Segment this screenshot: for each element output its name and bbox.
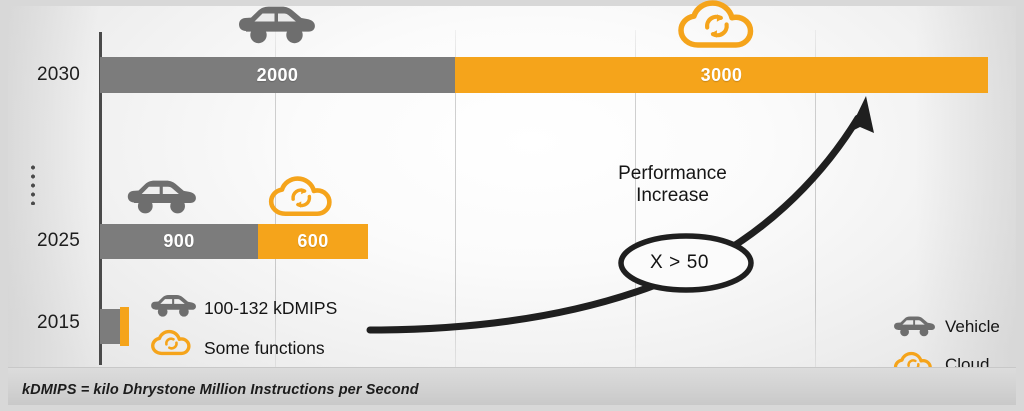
car-icon-2015 (150, 293, 196, 320)
axis-label-2025: 2025 (37, 230, 80, 252)
cloud-sync-icon-2025 (267, 176, 339, 218)
footnote-text: kDMIPS = kilo Dhrystone Million Instruct… (22, 382, 419, 398)
slide-root: 2030 2025 2015 200 (0, 0, 1024, 411)
performance-increase-line1: Performance (585, 163, 760, 185)
car-icon-2025 (126, 178, 196, 218)
legend-car-icon (893, 315, 935, 339)
performance-increase-label: Performance Increase (585, 163, 760, 208)
legend-label-vehicle: Vehicle (945, 317, 1000, 337)
axis-label-2015: 2015 (37, 312, 80, 334)
bar-2030-vehicle: 2000 (100, 57, 455, 93)
note-kdmips: 100-132 kDMIPS (204, 298, 337, 319)
performance-increase-line2: Increase (585, 185, 760, 207)
car-icon-2030 (237, 4, 315, 48)
chart-plot-area: 2030 2025 2015 200 (0, 0, 1024, 411)
axis-label-2030: 2030 (37, 64, 80, 86)
callout-label: X > 50 (650, 252, 709, 274)
note-functions: Some functions (204, 338, 325, 359)
bar-2025-cloud: 600 (258, 224, 368, 259)
bar-2030-cloud: 3000 (455, 57, 988, 93)
axis-break-dots (31, 163, 35, 205)
bar-2015-vehicle (100, 309, 120, 344)
bar-2015-cloud (120, 307, 129, 346)
cloud-sync-icon-2030 (676, 0, 762, 50)
cloud-sync-icon-2015 (150, 330, 195, 356)
bar-2025-vehicle: 900 (100, 224, 258, 259)
